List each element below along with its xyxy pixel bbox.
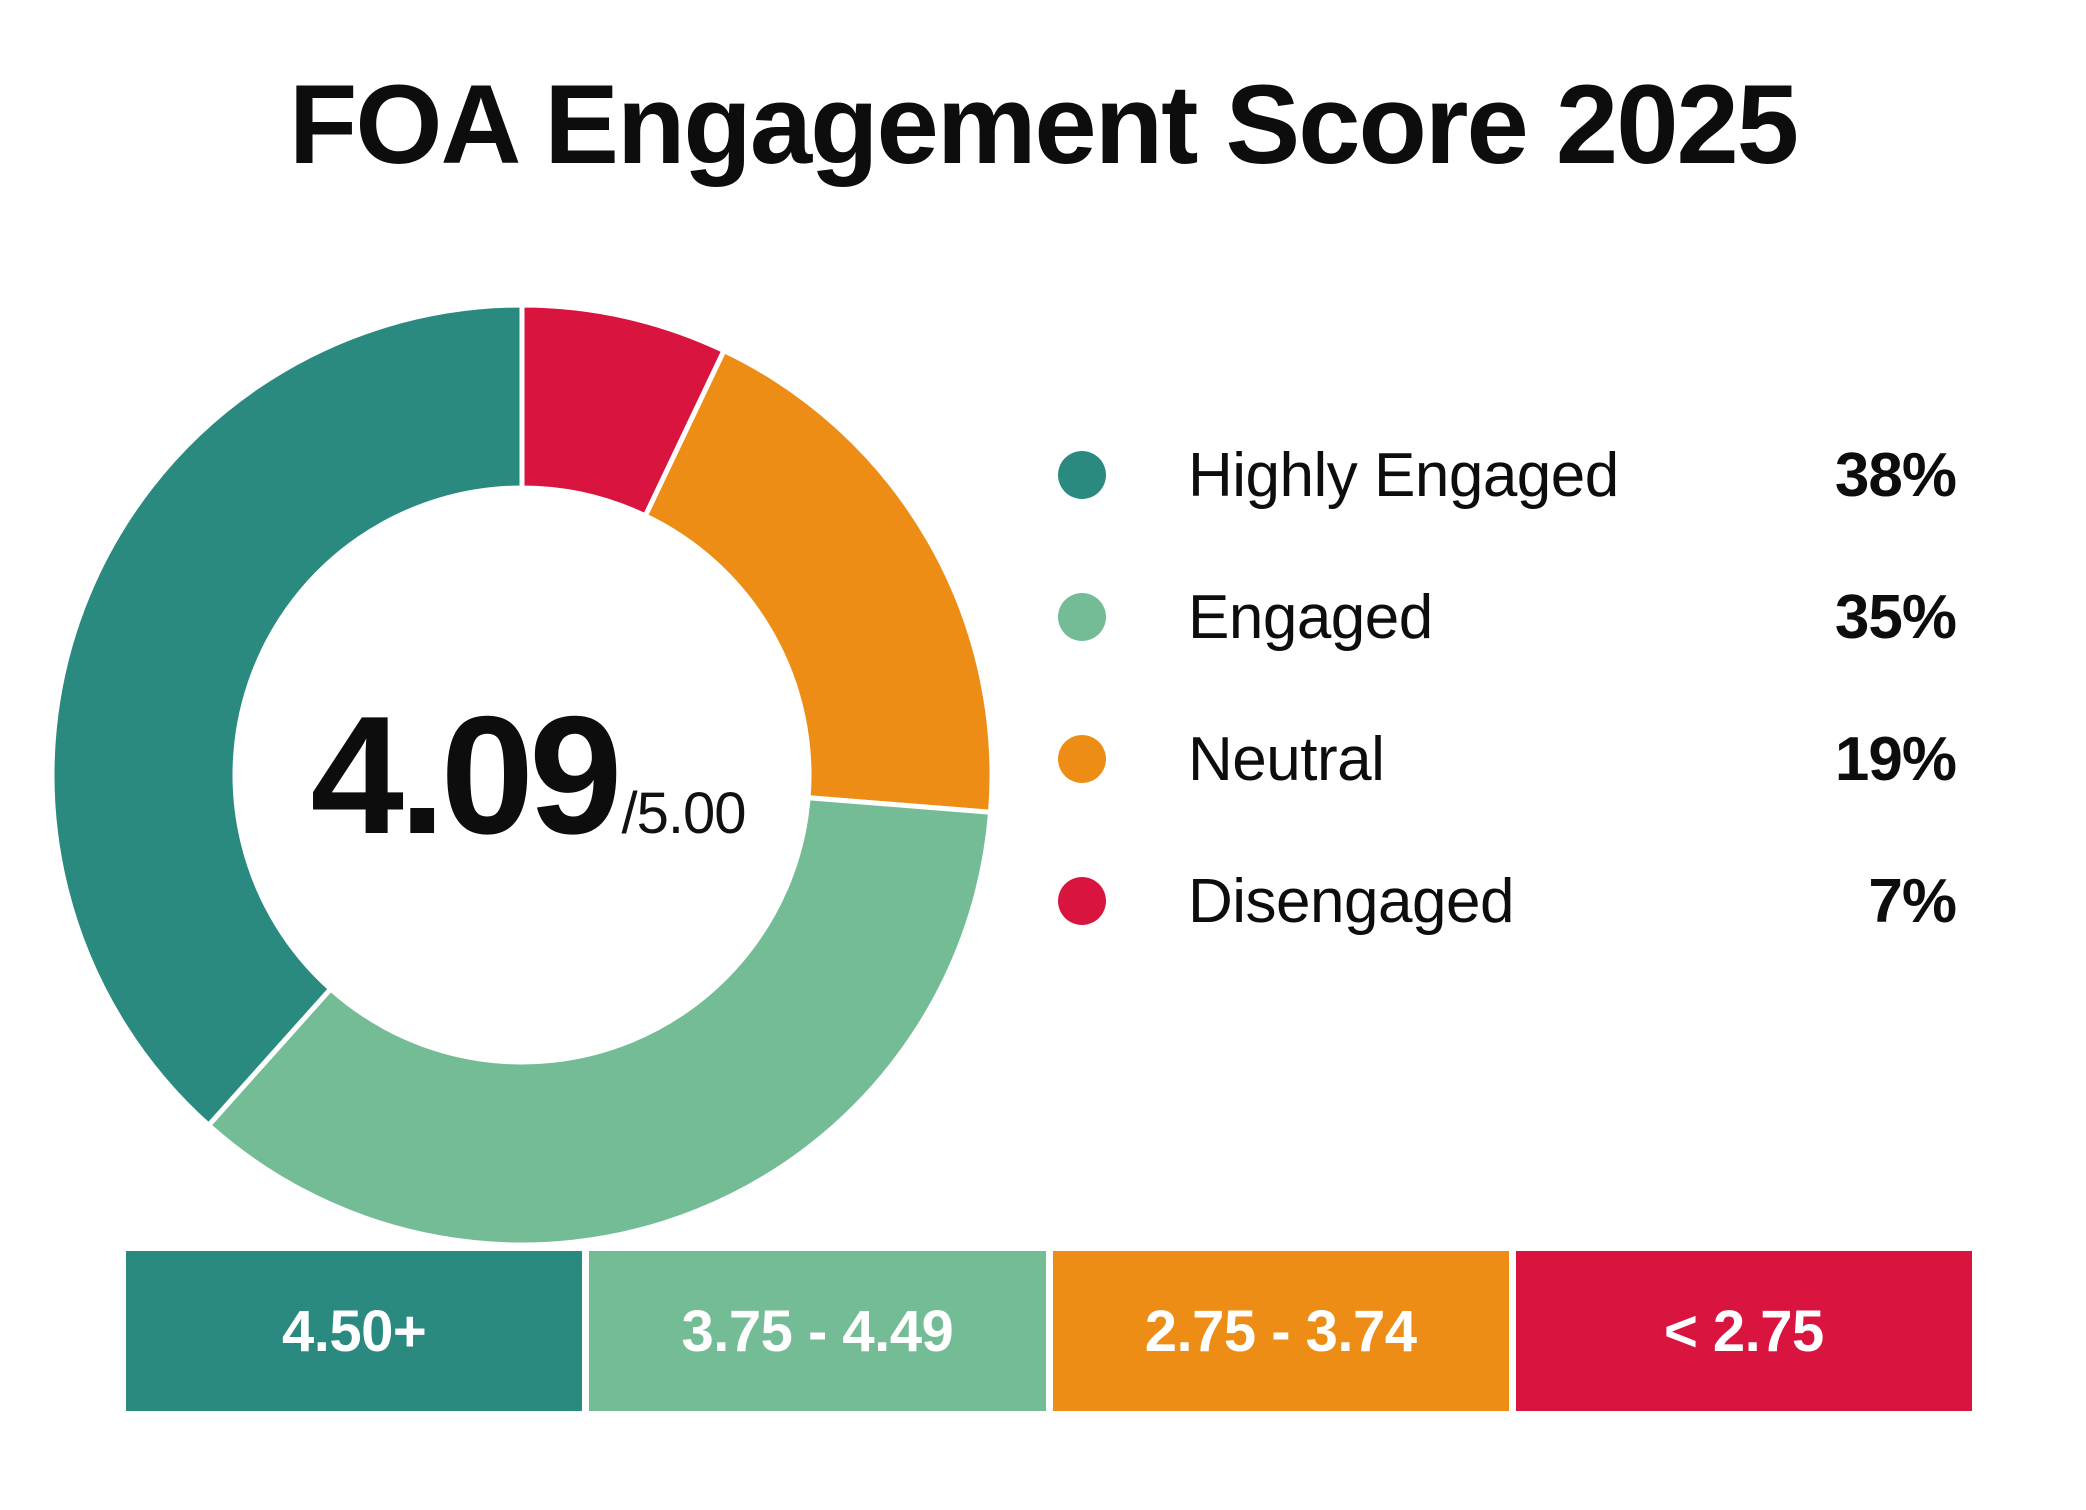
scale-band-1: 4.50+ <box>126 1251 582 1411</box>
legend-label: Engaged <box>1188 582 1433 653</box>
legend-row-neutral: Neutral19% <box>1058 688 1978 830</box>
legend-row-highly-engaged: Highly Engaged38% <box>1058 404 1978 546</box>
page-title: FOA Engagement Score 2025 <box>0 66 2086 184</box>
legend-dot-neutral-icon <box>1058 735 1106 783</box>
scale-band-label: 2.75 - 3.74 <box>1145 1298 1417 1365</box>
donut-slice-engaged <box>209 798 991 1245</box>
legend-dot-highly-engaged-icon <box>1058 451 1106 499</box>
scale-band-3: 2.75 - 3.74 <box>1053 1251 1509 1411</box>
donut-slice-highly-engaged <box>52 305 522 1125</box>
scale-band-label: 4.50+ <box>282 1298 426 1365</box>
legend-label: Disengaged <box>1188 866 1514 937</box>
legend-percent: 7% <box>1786 866 1978 937</box>
scale-band-label: < 2.75 <box>1664 1298 1824 1365</box>
legend-label: Neutral <box>1188 724 1384 795</box>
scale-band-4: < 2.75 <box>1516 1251 1972 1411</box>
legend-row-disengaged: Disengaged7% <box>1058 830 1978 972</box>
donut-slices <box>52 305 992 1245</box>
legend-label: Highly Engaged <box>1188 440 1619 511</box>
legend-dot-disengaged-icon <box>1058 877 1106 925</box>
legend: Highly Engaged38%Engaged35%Neutral19%Dis… <box>1058 404 1978 972</box>
legend-percent: 19% <box>1786 724 1978 795</box>
legend-row-engaged: Engaged35% <box>1058 546 1978 688</box>
legend-percent: 38% <box>1786 440 1978 511</box>
scale-band-label: 3.75 - 4.49 <box>681 1298 953 1365</box>
donut-chart-svg <box>46 299 998 1251</box>
chart-canvas: FOA Engagement Score 2025 4.09 /5.00 Hig… <box>0 0 2086 1510</box>
score-scale-bar: 4.50+3.75 - 4.492.75 - 3.74< 2.75 <box>126 1251 1972 1411</box>
legend-percent: 35% <box>1786 582 1978 653</box>
donut-chart: 4.09 /5.00 <box>46 299 998 1251</box>
scale-band-2: 3.75 - 4.49 <box>589 1251 1045 1411</box>
donut-slice-neutral <box>645 351 992 813</box>
legend-dot-engaged-icon <box>1058 593 1106 641</box>
